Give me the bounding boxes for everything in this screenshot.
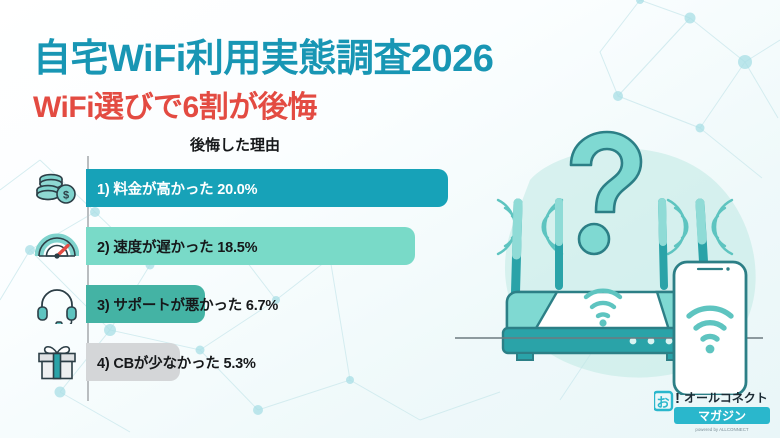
bar-container: 2) 速度が遅かった 18.5% (86, 224, 468, 268)
smartphone (674, 262, 746, 395)
svg-text:$: $ (63, 190, 69, 202)
logo-powered-by: powered by ALLCONNECT (695, 427, 749, 432)
chart-row: 2) 速度が遅かった 18.5% (28, 224, 468, 268)
headset-icon (28, 282, 86, 326)
logo-brand-text: オールコネクト (684, 391, 768, 405)
chart-title: 後悔した理由 (190, 134, 280, 155)
chart-row: 4) CBが少なかった 5.3% (28, 340, 468, 384)
infographic-canvas: 自宅WiFi利用実態調査2026 WiFi選びで6割が後悔 後悔した理由 (0, 0, 780, 438)
bar-container: 4) CBが少なかった 5.3% (86, 340, 468, 384)
regret-reasons-chart: 後悔した理由 $ (0, 134, 470, 404)
gift-icon (28, 340, 86, 384)
coins-icon: $ (28, 166, 86, 210)
bar-container: 1) 料金が高かった 20.0% (86, 166, 468, 210)
logo-sub-text: マガジン (698, 408, 746, 423)
question-mark-icon (571, 132, 641, 254)
bar-label-2: 2) 速度が遅かった 18.5% (86, 236, 257, 257)
bar-label-1: 1) 料金が高かった 20.0% (86, 178, 257, 199)
logo-badge-char: お (656, 395, 669, 410)
wifi-signal-left (498, 200, 562, 254)
logo-exclamation: ! (675, 390, 680, 407)
wifi-router-illustration (455, 120, 780, 395)
page-title: 自宅WiFi利用実態調査2026 (33, 27, 493, 82)
bar-label-4: 4) CBが少なかった 5.3% (86, 352, 256, 373)
page-subtitle: WiFi選びで6割が後悔 (33, 82, 317, 126)
bar-container: 3) サポートが悪かった 6.7% (86, 282, 468, 326)
chart-row: $ 1) 料金が高かった 20.0% (28, 166, 468, 210)
speedometer-icon (28, 224, 86, 268)
bar-label-3: 3) サポートが悪かった 6.7% (86, 294, 278, 315)
chart-row: 3) サポートが悪かった 6.7% (28, 282, 468, 326)
brand-logo[interactable]: お ! オールコネクト マガジン powered by ALLCONNECT (654, 386, 772, 434)
